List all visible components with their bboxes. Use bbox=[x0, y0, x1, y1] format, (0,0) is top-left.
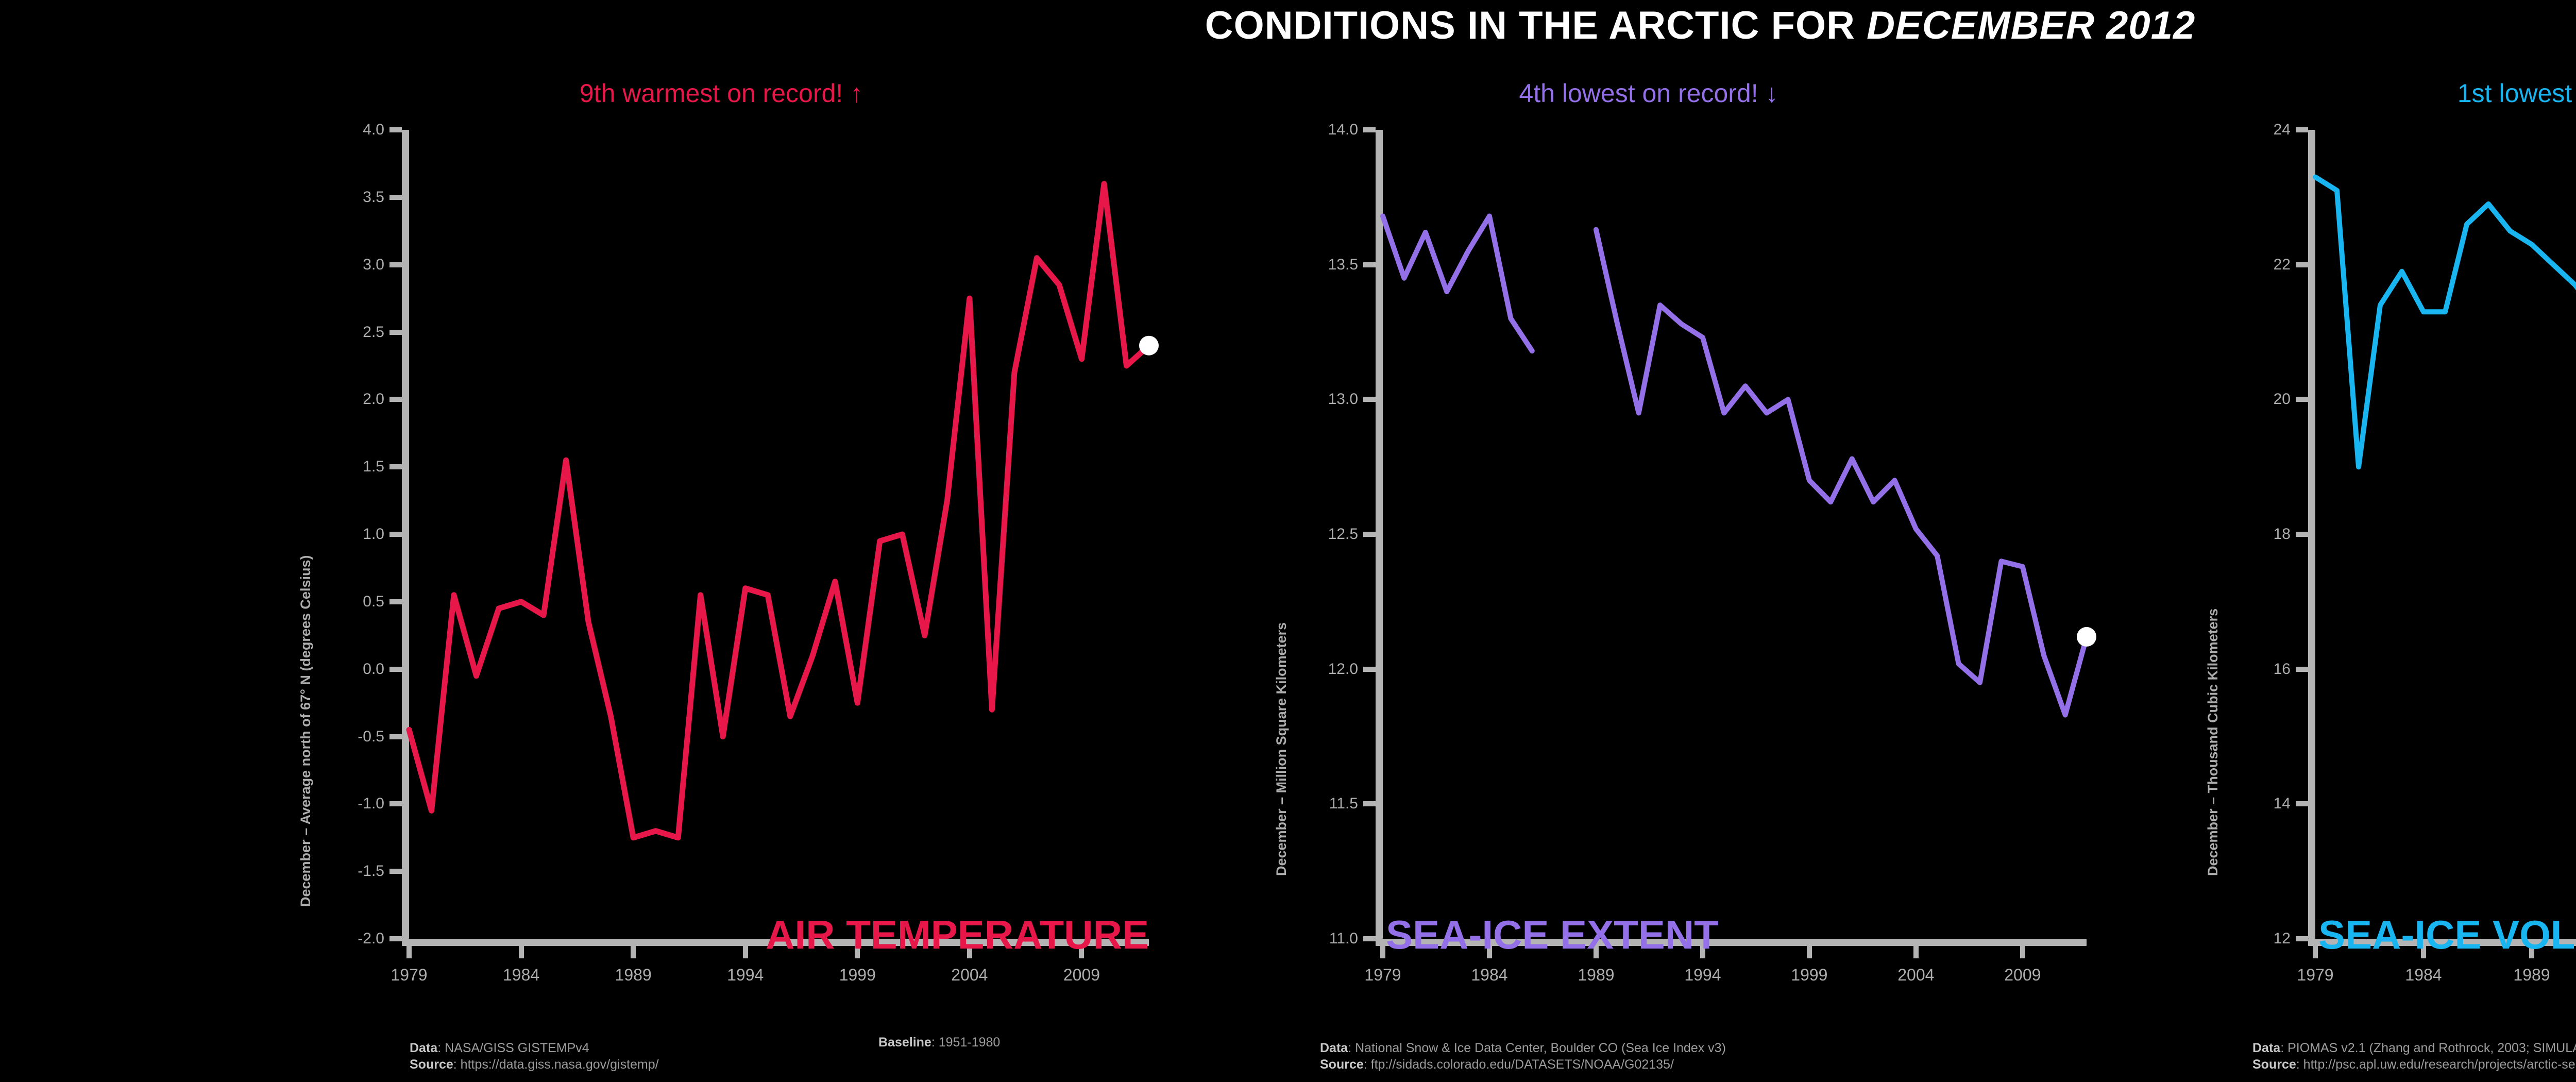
x-tick-label: 1999 bbox=[839, 966, 876, 985]
data-series-path bbox=[1596, 230, 2087, 715]
data-value: National Snow & Ice Data Center, Boulder… bbox=[1351, 1041, 1726, 1055]
baseline-note: Baseline: 1951-1980 bbox=[878, 1035, 1000, 1050]
x-tick-label: 1979 bbox=[391, 966, 427, 985]
y-tick-mark bbox=[389, 599, 402, 604]
source-value: https://data.giss.nasa.gov/gistemp/ bbox=[457, 1057, 659, 1072]
y-tick-label: 4.0 bbox=[363, 121, 384, 139]
y-tick-mark bbox=[2296, 667, 2308, 672]
x-tick-label: 1994 bbox=[1684, 966, 1721, 985]
y-tick-label: 2.0 bbox=[363, 391, 384, 408]
y-tick-label: -1.5 bbox=[358, 863, 384, 880]
infographic-root: CONDITIONS IN THE ARCTIC FOR DECEMBER 20… bbox=[0, 0, 2576, 1082]
y-tick-mark bbox=[1363, 532, 1376, 537]
plot-area-volume: 12141618202224 1979198419891994199920042… bbox=[2308, 130, 2576, 939]
baseline-label: Baseline bbox=[878, 1035, 931, 1050]
y-tick-mark bbox=[389, 734, 402, 739]
y-tick-mark bbox=[1363, 801, 1376, 806]
source-credit-line: Source: http://psc.apl.uw.edu/research/p… bbox=[2252, 1056, 2576, 1073]
data-credit-line: Data: National Snow & Ice Data Center, B… bbox=[1320, 1040, 1726, 1056]
panel-headline-extent: 4th lowest on record! ↓ bbox=[1206, 78, 2092, 108]
x-tick-label: 1979 bbox=[1364, 966, 1401, 985]
x-tick-mark bbox=[1913, 946, 1919, 958]
y-tick-label: 24 bbox=[2274, 121, 2291, 139]
y-tick-mark bbox=[1363, 127, 1376, 132]
y-tick-label: 12.0 bbox=[1328, 661, 1358, 678]
y-tick-label: 1.0 bbox=[363, 526, 384, 543]
source-credit-line: Source: https://data.giss.nasa.gov/giste… bbox=[410, 1056, 659, 1073]
y-tick-label: -2.0 bbox=[358, 930, 384, 948]
x-tick-label: 1989 bbox=[615, 966, 652, 985]
y-tick-mark bbox=[389, 667, 402, 672]
y-tick-label: -0.5 bbox=[358, 728, 384, 746]
y-tick-label: -1.0 bbox=[358, 795, 384, 813]
data-value: PIOMAS v2.1 (Zhang and Rothrock, 2003; S… bbox=[2284, 1041, 2576, 1055]
credits-volume: Data: PIOMAS v2.1 (Zhang and Rothrock, 2… bbox=[2252, 1040, 2576, 1073]
x-tick-label: 2004 bbox=[1897, 966, 1934, 985]
y-tick-label: 3.0 bbox=[363, 256, 384, 274]
series-line-extent bbox=[1376, 130, 2087, 939]
data-series-path bbox=[1383, 216, 1532, 351]
x-tick-mark bbox=[1807, 946, 1812, 958]
y-tick-label: 11.5 bbox=[1329, 795, 1358, 813]
y-tick-mark bbox=[389, 464, 402, 469]
y-axis-label-temperature: December – Average north of 67° N (degre… bbox=[298, 555, 314, 907]
y-tick-mark bbox=[1363, 936, 1376, 941]
y-tick-label: 11.0 bbox=[1329, 930, 1358, 948]
y-tick-label: 18 bbox=[2274, 526, 2291, 543]
y-tick-mark bbox=[389, 397, 402, 402]
data-label: Data bbox=[1320, 1041, 1348, 1055]
y-tick-label: 0.0 bbox=[363, 661, 384, 678]
panel-air-temperature: 9th warmest on record! ↑ December – Aver… bbox=[278, 0, 1164, 1082]
data-series-path bbox=[2315, 177, 2576, 925]
y-tick-mark bbox=[389, 532, 402, 537]
x-tick-label: 1979 bbox=[2297, 966, 2333, 985]
y-tick-mark bbox=[1363, 667, 1376, 672]
panel-name-volume: SEA-ICE VOLUME bbox=[2318, 911, 2576, 958]
data-value: NASA/GISS GISTEMPv4 bbox=[441, 1041, 589, 1055]
x-tick-label: 2009 bbox=[1063, 966, 1100, 985]
plot-area-extent: 11.011.512.012.513.013.514.0 19791984198… bbox=[1376, 130, 2087, 939]
y-tick-label: 20 bbox=[2274, 391, 2291, 408]
x-tick-label: 1989 bbox=[1578, 966, 1614, 985]
y-tick-mark bbox=[389, 936, 402, 941]
y-tick-label: 13.5 bbox=[1328, 256, 1358, 274]
data-series-path bbox=[409, 184, 1149, 838]
x-tick-label: 1994 bbox=[727, 966, 764, 985]
x-tick-mark bbox=[406, 946, 412, 958]
x-tick-mark bbox=[1380, 946, 1385, 958]
y-tick-mark bbox=[2296, 936, 2308, 941]
y-tick-mark bbox=[389, 330, 402, 335]
y-axis-label-volume: December – Thousand Cubic Kilometers bbox=[2205, 608, 2221, 876]
y-tick-label: 16 bbox=[2274, 661, 2291, 678]
x-tick-label: 1989 bbox=[2513, 966, 2550, 985]
panel-headline-volume: 1st lowest on record! ↓ bbox=[2138, 78, 2576, 108]
x-tick-mark bbox=[743, 946, 748, 958]
panel-sea-ice-volume: 1st lowest on record! ↓ December – Thous… bbox=[2138, 0, 2576, 1082]
x-tick-label: 2004 bbox=[951, 966, 988, 985]
latest-value-marker bbox=[1139, 336, 1159, 356]
y-tick-mark bbox=[389, 195, 402, 200]
y-tick-mark bbox=[2296, 127, 2308, 132]
y-tick-mark bbox=[389, 869, 402, 874]
source-credit-line: Source: ftp://sidads.colorado.edu/DATASE… bbox=[1320, 1056, 1726, 1073]
y-tick-mark bbox=[389, 801, 402, 806]
series-line-volume bbox=[2308, 130, 2576, 939]
x-tick-mark bbox=[519, 946, 524, 958]
y-tick-mark bbox=[2296, 532, 2308, 537]
source-value: http://psc.apl.uw.edu/research/projects/… bbox=[2300, 1057, 2576, 1072]
x-tick-mark bbox=[631, 946, 636, 958]
y-tick-label: 12 bbox=[2274, 930, 2291, 948]
y-axis-label-extent: December – Million Square Kilometers bbox=[1274, 622, 1290, 876]
y-tick-label: 12.5 bbox=[1328, 526, 1358, 543]
y-tick-mark bbox=[2296, 262, 2308, 267]
credits-extent: Data: National Snow & Ice Data Center, B… bbox=[1320, 1040, 1726, 1073]
y-tick-label: 22 bbox=[2274, 256, 2291, 274]
y-tick-label: 3.5 bbox=[363, 189, 384, 206]
y-tick-label: 14.0 bbox=[1328, 121, 1358, 139]
series-line-temperature bbox=[402, 130, 1149, 939]
panel-headline-temperature: 9th warmest on record! ↑ bbox=[278, 78, 1164, 108]
y-tick-mark bbox=[389, 127, 402, 132]
source-value: ftp://sidads.colorado.edu/DATASETS/NOAA/… bbox=[1367, 1057, 1674, 1072]
credits-temperature: Data: NASA/GISS GISTEMPv4 Source: https:… bbox=[410, 1040, 659, 1073]
y-tick-mark bbox=[1363, 397, 1376, 402]
panel-name-temperature: AIR TEMPERATURE bbox=[766, 911, 1149, 958]
source-label: Source bbox=[410, 1057, 453, 1072]
y-tick-label: 0.5 bbox=[363, 593, 384, 611]
data-label: Data bbox=[2252, 1041, 2280, 1055]
y-tick-mark bbox=[389, 262, 402, 267]
y-tick-label: 13.0 bbox=[1328, 391, 1358, 408]
y-tick-mark bbox=[2296, 801, 2308, 806]
source-label: Source bbox=[2252, 1057, 2296, 1072]
y-tick-mark bbox=[2296, 397, 2308, 402]
data-credit-line: Data: NASA/GISS GISTEMPv4 bbox=[410, 1040, 659, 1056]
panel-name-extent: SEA-ICE EXTENT bbox=[1386, 911, 1719, 958]
x-tick-mark bbox=[2313, 946, 2318, 958]
x-tick-label: 2009 bbox=[2004, 966, 2041, 985]
y-tick-label: 14 bbox=[2274, 795, 2291, 813]
y-tick-label: 2.5 bbox=[363, 324, 384, 341]
x-tick-label: 1984 bbox=[1471, 966, 1507, 985]
x-tick-label: 1984 bbox=[2405, 966, 2442, 985]
panel-sea-ice-extent: 4th lowest on record! ↓ December – Milli… bbox=[1206, 0, 2092, 1082]
data-label: Data bbox=[410, 1041, 437, 1055]
x-tick-label: 1984 bbox=[503, 966, 539, 985]
y-tick-mark bbox=[1363, 262, 1376, 267]
x-tick-mark bbox=[2020, 946, 2025, 958]
y-tick-label: 1.5 bbox=[363, 458, 384, 476]
latest-value-marker bbox=[2077, 627, 2096, 647]
x-tick-label: 1999 bbox=[1791, 966, 1827, 985]
plot-area-temperature: -2.0-1.5-1.0-0.50.00.51.01.52.02.53.03.5… bbox=[402, 130, 1149, 939]
source-label: Source bbox=[1320, 1057, 1364, 1072]
baseline-value: 1951-1980 bbox=[935, 1035, 1001, 1050]
data-credit-line: Data: PIOMAS v2.1 (Zhang and Rothrock, 2… bbox=[2252, 1040, 2576, 1056]
